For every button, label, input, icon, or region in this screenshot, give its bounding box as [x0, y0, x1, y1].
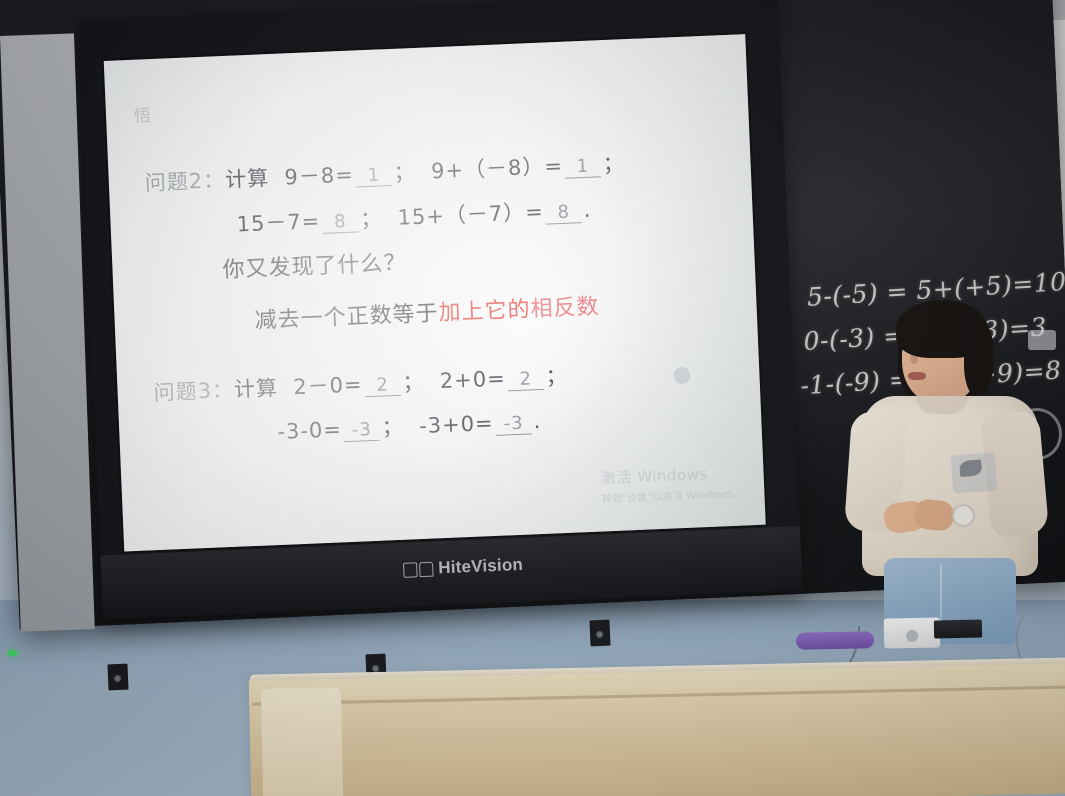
q2-answer-4: 8 — [545, 202, 582, 224]
interactive-display[interactable]: 悟 问题2：计算 9－8=1； 9+（－8）=1； 15－7=8； 15+（－7… — [78, 0, 803, 619]
slide-corner-mark: 悟 — [133, 101, 152, 127]
display-mount-bracket — [589, 620, 610, 647]
q3-answer-3: -3 — [344, 420, 381, 442]
status-led-indicator — [8, 650, 17, 656]
rule-plain: 减去一个正数等于 — [254, 301, 439, 334]
q2-answer-2: 1 — [565, 156, 602, 178]
teacher-figure — [840, 296, 1050, 636]
question3-label: 问题3： — [153, 378, 234, 405]
q3-answer-4: -3 — [495, 413, 532, 435]
podium-side-wing — [261, 687, 343, 796]
question2-verb: 计算 — [225, 166, 270, 192]
shirt-graphic-print — [951, 453, 998, 494]
q2-expr-4: 15+（－7）= — [397, 200, 544, 230]
q2-answer-1: 1 — [355, 165, 392, 187]
slide-content: 悟 问题2：计算 9－8=1； 9+（－8）=1； 15－7=8； 15+（－7… — [104, 34, 766, 551]
hair-side — [964, 318, 994, 396]
hitevision-logo-icon — [403, 561, 434, 577]
q2-answer-3: 8 — [322, 211, 359, 233]
wristwatch — [952, 504, 975, 527]
display-mount-bracket — [107, 664, 128, 691]
q3-sep-4: . — [533, 409, 542, 433]
podium — [249, 663, 1065, 796]
q2-sep-4: . — [583, 198, 592, 222]
rule-statement: 减去一个正数等于加上它的相反数 — [254, 288, 600, 334]
question2-line2: 15－7=8； 15+（－7）=8. — [236, 194, 592, 239]
watermark-line1: 激活 Windows — [601, 462, 742, 489]
q2-expr-2: 9+（－8）= — [431, 154, 564, 184]
q3-answer-1: 2 — [364, 375, 401, 397]
question2-line1: 问题2：计算 9－8=1； 9+（－8）=1； — [144, 147, 625, 197]
question2-label: 问题2： — [144, 168, 225, 195]
q3-expr-3: -3-0= — [277, 417, 342, 444]
q3-expr-4: -3+0= — [419, 411, 494, 438]
rule-pink: 相反数 — [530, 294, 600, 322]
question3-verb: 计算 — [233, 376, 278, 402]
q2-sep-3: ； — [360, 206, 383, 231]
classroom-photo: 5-(-5) = 5+(+5)=10 0-(-3) = 0+(+3)=3 -1-… — [0, 0, 1065, 796]
white-device[interactable] — [884, 617, 941, 648]
question3-line1: 问题3：计算 2－0=2； 2+0=2； — [153, 360, 568, 407]
q3-answer-2: 2 — [507, 369, 544, 391]
q3-expr-1: 2－0= — [293, 372, 363, 399]
purple-pen-case[interactable] — [796, 631, 874, 650]
q2-sep-2: ； — [602, 151, 625, 176]
q2-sep-1: ； — [393, 160, 416, 185]
mouth — [908, 372, 926, 380]
q2-expr-3: 15－7= — [236, 209, 321, 236]
black-remote[interactable] — [934, 619, 982, 638]
question3-line2: -3-0=-3； -3+0=-3. — [277, 405, 542, 446]
q3-sep-3: ； — [381, 415, 404, 440]
discovery-prompt: 你又发现了什么？ — [222, 244, 407, 284]
projection-screen[interactable]: 悟 问题2：计算 9－8=1； 9+（－8）=1； 15－7=8； 15+（－7… — [104, 34, 766, 551]
hand-right — [913, 498, 956, 532]
q2-expr-1: 9－8= — [284, 163, 354, 190]
rule-red: 加上它的 — [438, 297, 531, 326]
q3-expr-2: 2+0= — [439, 366, 506, 393]
windows-activation-watermark: 激活 Windows 转到"设置"以激活 Windows。 — [601, 462, 743, 506]
q3-sep-2: ； — [545, 364, 568, 389]
screen-smudge — [673, 367, 691, 385]
brand-label: HiteVision — [438, 555, 524, 579]
q3-sep-1: ； — [402, 370, 425, 395]
watermark-line2: 转到"设置"以激活 Windows。 — [602, 485, 743, 506]
